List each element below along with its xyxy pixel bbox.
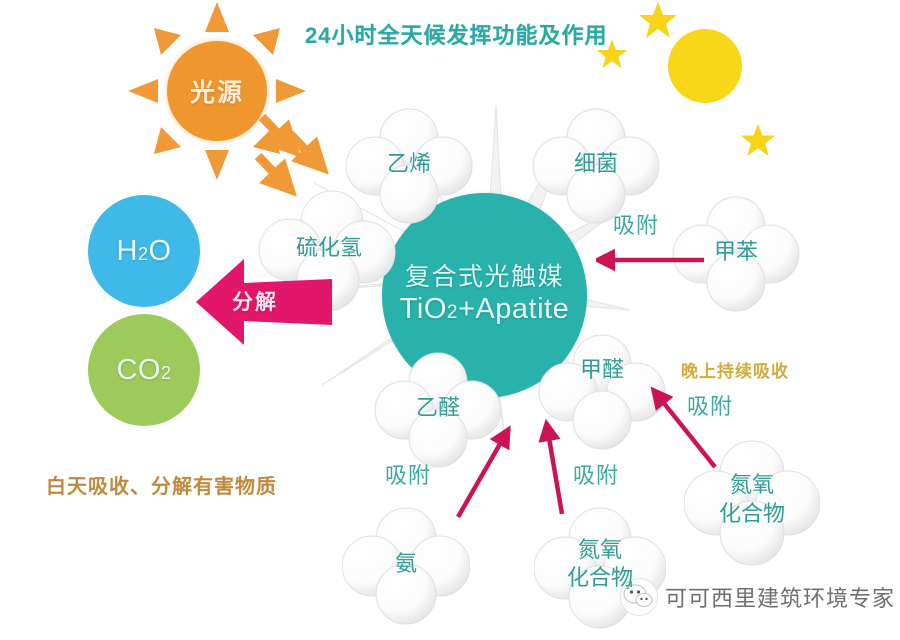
watermark-text: 可可西里建筑环境专家 [665,581,895,613]
core-en-prefix: TiO [400,293,447,325]
cloud-label: 氮氧化合物 [540,536,660,592]
cloud-label: 氨 [360,552,452,576]
core-label-cn: 复合式光触媒 [405,262,564,292]
star-icon-left [596,38,628,70]
cloud-label: 甲苯 [690,240,782,264]
caption-nighttime: 晚上持续吸收 [681,357,789,382]
cloud-label: 乙醛 [392,396,484,420]
cloud-label: 氮氧化合物 [692,470,812,528]
co2-label: CO2 [116,354,171,387]
sun-label: 光源 [190,73,244,109]
caption-daytime: 白天吸收、分解有害物质 [46,470,277,499]
core-label-en: TiO2+Apatite [400,292,569,330]
output-circle-co2: CO2 [88,314,200,426]
adsorption-arrow-bottom-left-icon [450,425,520,520]
crescent-moon-icon [668,29,742,103]
cloud-label: 硫化氢 [268,236,390,260]
decompose-label: 分解 [232,286,278,316]
adsorption-label-bottom-left: 吸附 [385,458,431,490]
output-circle-h2o: H2O [88,195,200,307]
adsorption-label-bottom-center: 吸附 [573,458,619,490]
core-en-suffix: +Apatite [458,293,569,325]
star-icon-bottom [740,122,776,158]
watermark: 可可西里建筑环境专家 [620,578,895,616]
decompose-arrow: 分解 [196,253,332,351]
adsorption-label-right: 吸附 [613,208,659,240]
core-en-sub: 2 [447,302,458,323]
cloud-label: 乙烯 [363,152,455,176]
cloud-label: 细菌 [550,152,642,176]
cloud-label: 甲醛 [556,358,648,382]
adsorption-label-bottom-right: 吸附 [687,389,733,421]
infographic-canvas: 24小时全天候发挥功能及作用 光源 [0,0,900,640]
h2o-label: H2O [116,235,171,268]
page-title: 24小时全天候发挥功能及作用 [305,18,607,50]
star-icon-top-left [638,0,678,40]
